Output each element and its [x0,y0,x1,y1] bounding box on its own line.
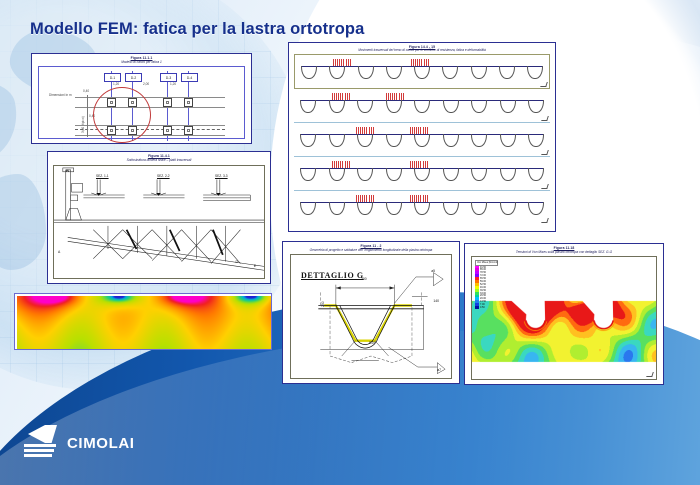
movement-row [294,89,550,123]
trapezoidal-rib [357,168,373,181]
legend-swatch [475,306,479,309]
trapezoidal-rib [300,202,316,215]
dim-label-height: 140 [433,299,439,303]
trapezoidal-rib [357,134,373,147]
contour-legend: Von Mises [N/mm2] 91.5085.0078.5072.0065… [475,260,498,309]
figure-caption: Figura 11 - 2 Geometria di progetto e sa… [283,245,459,253]
trapezoidal-rib [443,134,459,147]
caption-text: Movimenti trasversali del treno di caric… [289,49,555,53]
row-corner-mark [541,150,549,155]
deck-line [75,135,225,136]
rib-group [300,134,544,148]
detail-mark-d: D [236,260,238,264]
dim-label-radius: R25 [369,341,375,345]
trapezoidal-rib [500,202,516,215]
dimension-note: Dimensioni in m [49,93,72,97]
fem-strip-contour [17,296,272,350]
cimolai-logo: CIMOLAI [22,425,135,461]
weld-flag-bottom: a7 [437,368,441,372]
row-corner-mark [541,184,549,189]
wheel-pad [184,126,193,135]
continent-shape [0,68,26,177]
load-mark [410,127,428,134]
trapezoidal-rib [443,168,459,181]
load-mark [332,161,350,168]
trapezoidal-rib [386,100,402,113]
dimension-label: 1,20 [170,82,176,86]
detail-g-drawing [291,255,451,378]
trapezoidal-rib [414,100,430,113]
rib-group [300,100,544,114]
movement-row [294,54,550,89]
figure-transverse-movements: Figura 14.4 - 15 Movimenti trasversali d… [288,42,556,232]
trapezoidal-rib [500,100,516,113]
movement-row [294,123,550,157]
row-corner-mark [541,116,549,121]
plot-frame: Von Mises [N/mm2] 91.5085.0078.5072.0065… [471,256,657,380]
rib-group [300,168,544,182]
trapezoidal-rib [358,66,374,79]
axle-box: D-3 [160,73,177,82]
substructure-drawing [54,166,264,278]
trapezoidal-rib [300,134,316,147]
trapezoidal-rib [414,168,430,181]
trapezoidal-rib [414,66,430,79]
trapezoidal-rib [499,66,515,79]
trapezoidal-rib [414,202,430,215]
dimension-spine [87,95,88,137]
trapezoidal-rib [414,134,430,147]
wheel-pad [184,98,193,107]
trapezoidal-rib [386,66,402,79]
load-mark [356,127,374,134]
dimension-label: 2,00 [143,82,149,86]
highlight-circle [93,87,151,143]
legend-value: 0.50 [480,306,485,309]
rib-group [301,66,543,80]
figure-substructure: Figura 11.4.1 Sottostruttura lamiera fin… [47,151,271,284]
row-corner-mark [540,82,548,87]
figure-fem-rib: Figura 11.18 Tensioni di Von Mises sulla… [464,243,664,385]
row-corner-mark [541,218,549,223]
detail-mark-e: E [254,264,256,268]
detail-mark-b: B [66,168,69,173]
trapezoidal-rib [528,202,544,215]
trapezoidal-rib [301,66,317,79]
load-mark [410,161,428,168]
rib-group [300,202,544,216]
dimension-label: 0,40 [83,89,89,93]
trapezoidal-rib [357,100,373,113]
logo-wordmark: CIMOLAI [67,435,135,452]
legend-row: 0.50 [475,306,498,309]
figure-detail-g: Figura 11 - 2 Geometria di progetto e sa… [282,241,460,384]
trapezoidal-rib [471,66,487,79]
slide-canvas: Modello FEM: fatica per la lastra ortotr… [0,0,700,485]
trapezoidal-rib [357,202,373,215]
trapezoidal-rib [329,134,345,147]
trapezoidal-rib [527,66,543,79]
trapezoidal-rib [442,66,458,79]
wheel-pad [163,98,172,107]
trapezoidal-rib [386,202,402,215]
cimolai-chevron-icon [22,425,62,461]
trapezoidal-rib [443,100,459,113]
figure-caption: Figura 11.1.1 Modello di carico per fati… [32,57,251,65]
caption-text: Sottostruttura lamiera finale – piatti t… [48,159,270,163]
detail-mark-a: A [58,250,60,254]
trapezoidal-rib [329,168,345,181]
figure-fem-strip [14,293,272,350]
figure-caption: Figura 11.18 Tensioni di Von Mises sulla… [465,247,663,255]
dim-label-depth: 250 [321,301,325,307]
trapezoidal-rib [300,100,316,113]
figure-caption: Figura 11.4.1 Sottostruttura lamiera fin… [48,155,270,163]
movement-row [294,191,550,224]
trapezoidal-rib [500,168,516,181]
caption-text: Modello di carico per fatica 1 [32,61,251,65]
fem-rib-contour [472,257,656,379]
drawing-frame: Dimensioni in m 3,00 (tipico) D-1 D-2 D-… [38,66,245,139]
trapezoidal-rib [386,134,402,147]
axle-box: D-1 [104,73,121,82]
drawing-frame: DETTAGLIO G [290,254,452,379]
movement-row [294,157,550,191]
trapezoidal-rib [528,134,544,147]
trapezoidal-rib [329,202,345,215]
trapezoidal-rib [386,168,402,181]
legend-row-list: 91.5085.0078.5072.0065.5059.0052.5046.00… [475,266,498,309]
trapezoidal-rib [329,66,345,79]
movement-row-list [294,54,550,227]
trapezoidal-rib [528,100,544,113]
load-mark [332,93,350,100]
trapezoidal-rib [528,168,544,181]
load-mark [333,59,351,66]
drawing-frame: SEZ. 1-1 SEZ. 2-2 SEZ. 3-3 [53,165,265,279]
load-mark [411,59,429,66]
trapezoidal-rib [443,202,459,215]
trapezoidal-rib [471,100,487,113]
trapezoidal-rib [500,134,516,147]
continent-shape [0,174,46,270]
dimension-label: 1,20 [113,82,119,86]
load-mark [410,195,428,202]
axle-box: D-2 [125,73,142,82]
trapezoidal-rib [471,168,487,181]
page-title: Modello FEM: fatica per la lastra ortotr… [30,20,364,39]
weld-flag-top: a5 [431,269,435,273]
trapezoidal-rib [471,134,487,147]
caption-text: Geometria di progetto e saldature dell' … [283,249,459,253]
trapezoidal-rib [300,168,316,181]
wheel-pad [163,126,172,135]
dim-label-width: 300 [361,277,367,281]
figure-load-model: Figura 11.1.1 Modello di carico per fati… [31,53,252,144]
caption-text: Tensioni di Von Mises sulla piastra orto… [465,251,663,255]
load-mark [386,93,404,100]
axle-box: D-4 [181,73,198,82]
trapezoidal-rib [471,202,487,215]
figure-caption: Figura 14.4 - 15 Movimenti trasversali d… [289,46,555,54]
load-mark [356,195,374,202]
trapezoidal-rib [329,100,345,113]
